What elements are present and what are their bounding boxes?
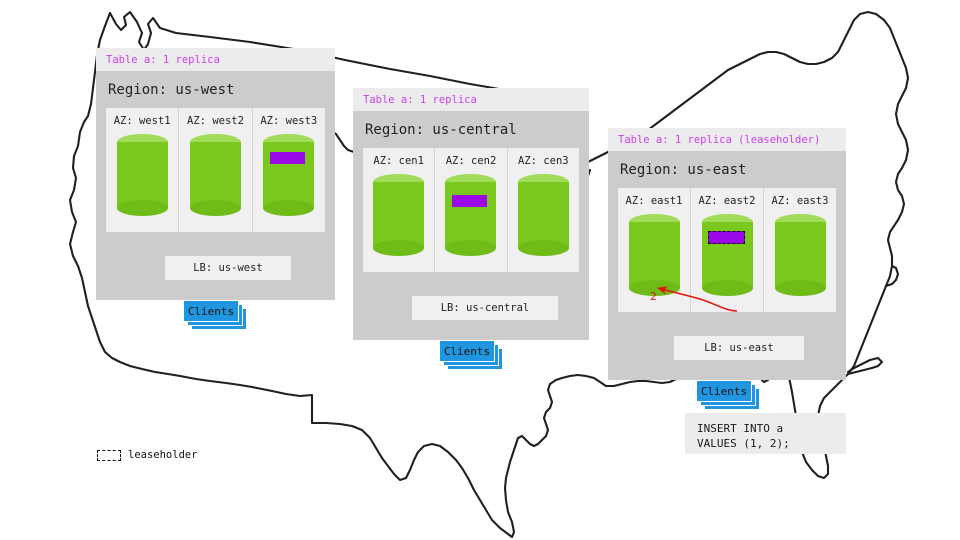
replica-marker-leaseholder[interactable]	[708, 231, 745, 244]
az-cell-west1[interactable]: AZ: west1	[106, 108, 179, 232]
clients-button[interactable]: Clients	[439, 340, 495, 362]
az-label: AZ: west1	[114, 115, 171, 127]
table-replica-label: Table a: 1 replica	[106, 54, 325, 66]
panel-body-us-east: Region: us-east AZ: east1 AZ: east2	[608, 151, 846, 380]
region-title: Region: us-east	[620, 162, 836, 178]
az-label: AZ: west3	[260, 115, 317, 127]
cylinder-bottom-ellipse	[263, 200, 314, 216]
clients-stack-us-central[interactable]: Clients	[439, 340, 505, 372]
az-row-us-west: AZ: west1 AZ: west2 AZ	[106, 108, 325, 232]
node-cylinder-cen1[interactable]	[373, 174, 424, 256]
table-replica-label: Table a: 1 replica	[363, 94, 579, 106]
az-label: AZ: cen1	[373, 155, 424, 167]
cylinder-body	[373, 182, 424, 248]
node-cylinder-west2[interactable]	[190, 134, 241, 216]
sql-statement-box: INSERT INTO a VALUES (1, 2);	[685, 413, 846, 454]
diagram-canvas: Table a: 1 replica Region: us-west AZ: w…	[0, 0, 960, 540]
node-cylinder-east1[interactable]	[629, 214, 680, 296]
cylinder-bottom-ellipse	[117, 200, 168, 216]
annotation-number-2: 2	[650, 290, 657, 303]
load-balancer-us-west[interactable]: LB: us-west	[164, 255, 292, 281]
az-cell-cen1[interactable]: AZ: cen1	[363, 148, 435, 272]
clients-stack-us-east[interactable]: Clients	[696, 380, 762, 412]
panel-header-us-central: Table a: 1 replica	[353, 88, 589, 111]
az-label: AZ: west2	[187, 115, 244, 127]
node-cylinder-east3[interactable]	[775, 214, 826, 296]
load-balancer-us-east[interactable]: LB: us-east	[673, 335, 805, 361]
az-cell-west3[interactable]: AZ: west3	[253, 108, 325, 232]
node-cylinder-west1[interactable]	[117, 134, 168, 216]
cylinder-body	[190, 142, 241, 208]
cylinder-body	[775, 222, 826, 288]
az-cell-cen3[interactable]: AZ: cen3	[508, 148, 579, 272]
cylinder-bottom-ellipse	[373, 240, 424, 256]
clients-stack-us-west[interactable]: Clients	[183, 300, 249, 332]
node-cylinder-cen3[interactable]	[518, 174, 569, 256]
cylinder-bottom-ellipse	[445, 240, 496, 256]
az-label: AZ: cen3	[518, 155, 569, 167]
region-title: Region: us-central	[365, 122, 579, 138]
cylinder-bottom-ellipse	[518, 240, 569, 256]
az-cell-east3[interactable]: AZ: east3	[764, 188, 836, 312]
table-replica-label: Table a: 1 replica (leaseholder)	[618, 134, 836, 146]
replica-marker[interactable]	[270, 152, 305, 164]
az-cell-east2[interactable]: AZ: east2	[691, 188, 764, 312]
az-row-us-central: AZ: cen1 AZ: cen2	[363, 148, 579, 272]
region-panel-us-east: Table a: 1 replica (leaseholder) Region:…	[608, 128, 846, 380]
az-label: AZ: east3	[772, 195, 829, 207]
node-cylinder-west3[interactable]	[263, 134, 314, 216]
az-label: AZ: cen2	[446, 155, 497, 167]
cylinder-bottom-ellipse	[190, 200, 241, 216]
region-title: Region: us-west	[108, 82, 325, 98]
node-cylinder-cen2[interactable]	[445, 174, 496, 256]
legend-leaseholder: leaseholder	[97, 449, 198, 461]
cylinder-body	[117, 142, 168, 208]
panel-header-us-east: Table a: 1 replica (leaseholder)	[608, 128, 846, 151]
az-label: AZ: east2	[699, 195, 756, 207]
cylinder-bottom-ellipse	[702, 280, 753, 296]
region-panel-us-west: Table a: 1 replica Region: us-west AZ: w…	[96, 48, 335, 300]
cylinder-body	[629, 222, 680, 288]
replica-marker[interactable]	[452, 195, 487, 207]
cylinder-body	[445, 182, 496, 248]
clients-button[interactable]: Clients	[183, 300, 239, 322]
clients-button[interactable]: Clients	[696, 380, 752, 402]
az-label: AZ: east1	[626, 195, 683, 207]
legend-label: leaseholder	[128, 449, 198, 461]
panel-body-us-west: Region: us-west AZ: west1 AZ: west2	[96, 71, 335, 300]
cylinder-body	[518, 182, 569, 248]
az-cell-cen2[interactable]: AZ: cen2	[435, 148, 507, 272]
az-cell-west2[interactable]: AZ: west2	[179, 108, 252, 232]
load-balancer-us-central[interactable]: LB: us-central	[411, 295, 559, 321]
region-panel-us-central: Table a: 1 replica Region: us-central AZ…	[353, 88, 589, 340]
panel-body-us-central: Region: us-central AZ: cen1 AZ: cen2	[353, 111, 589, 340]
panel-header-us-west: Table a: 1 replica	[96, 48, 335, 71]
dashed-rect-icon	[97, 450, 121, 461]
cylinder-bottom-ellipse	[775, 280, 826, 296]
node-cylinder-east2[interactable]	[702, 214, 753, 296]
